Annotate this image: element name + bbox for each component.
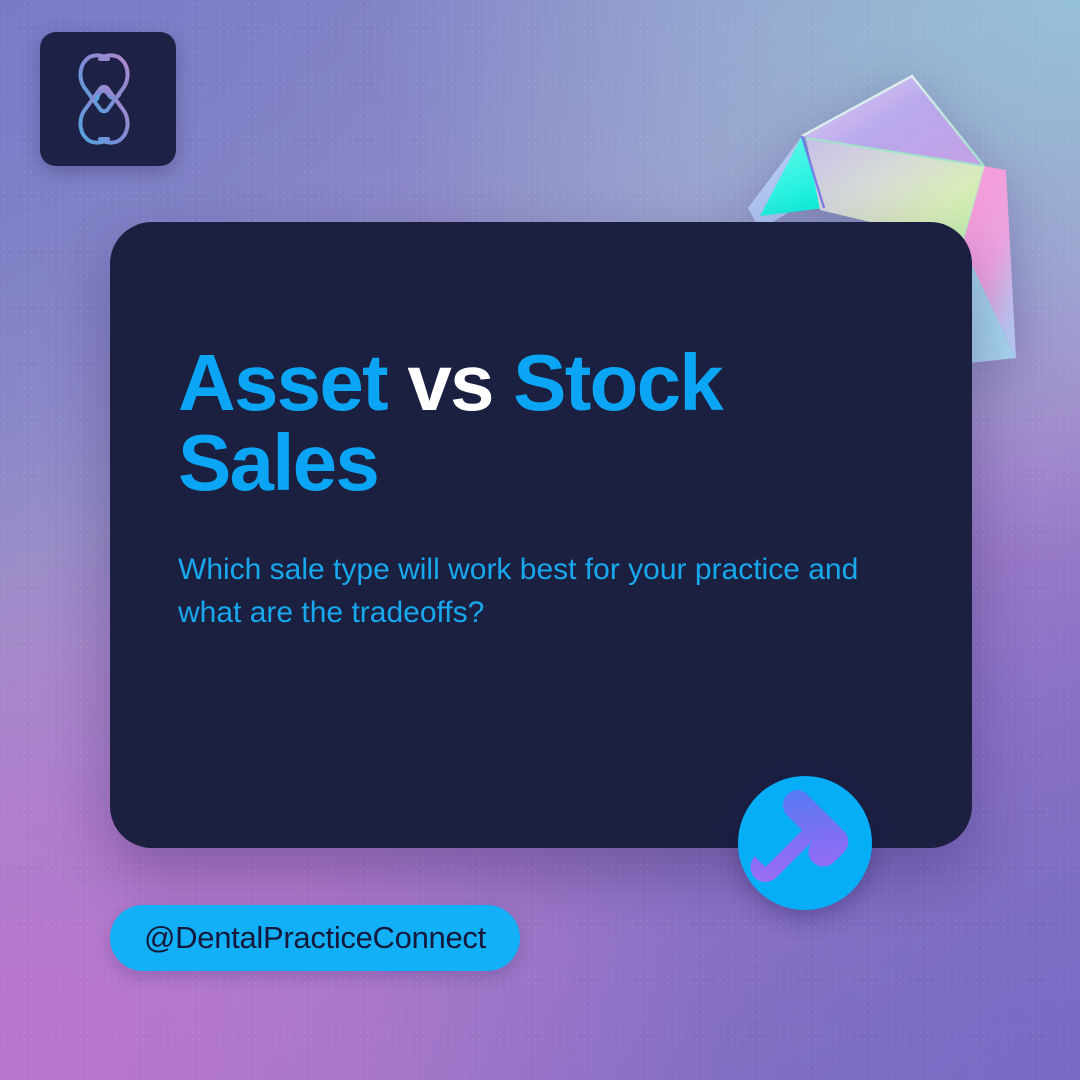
- headline-part1: Asset: [178, 338, 407, 427]
- content-card: Asset vs Stock Sales Which sale type wil…: [110, 222, 972, 848]
- subtitle: Which sale type will work best for your …: [178, 548, 868, 635]
- handle-label: @DentalPracticeConnect: [144, 920, 486, 956]
- dental-tooth-infinity-logo-icon: [71, 49, 145, 149]
- arrow-right-chevron-badge-icon[interactable]: [738, 776, 872, 910]
- page-title: Asset vs Stock Sales: [178, 343, 908, 501]
- headline-accent: vs: [407, 338, 492, 427]
- handle-pill[interactable]: @DentalPracticeConnect: [110, 905, 520, 971]
- brand-logo-tile: [40, 32, 176, 166]
- social-post-canvas: Asset vs Stock Sales Which sale type wil…: [0, 0, 1080, 1080]
